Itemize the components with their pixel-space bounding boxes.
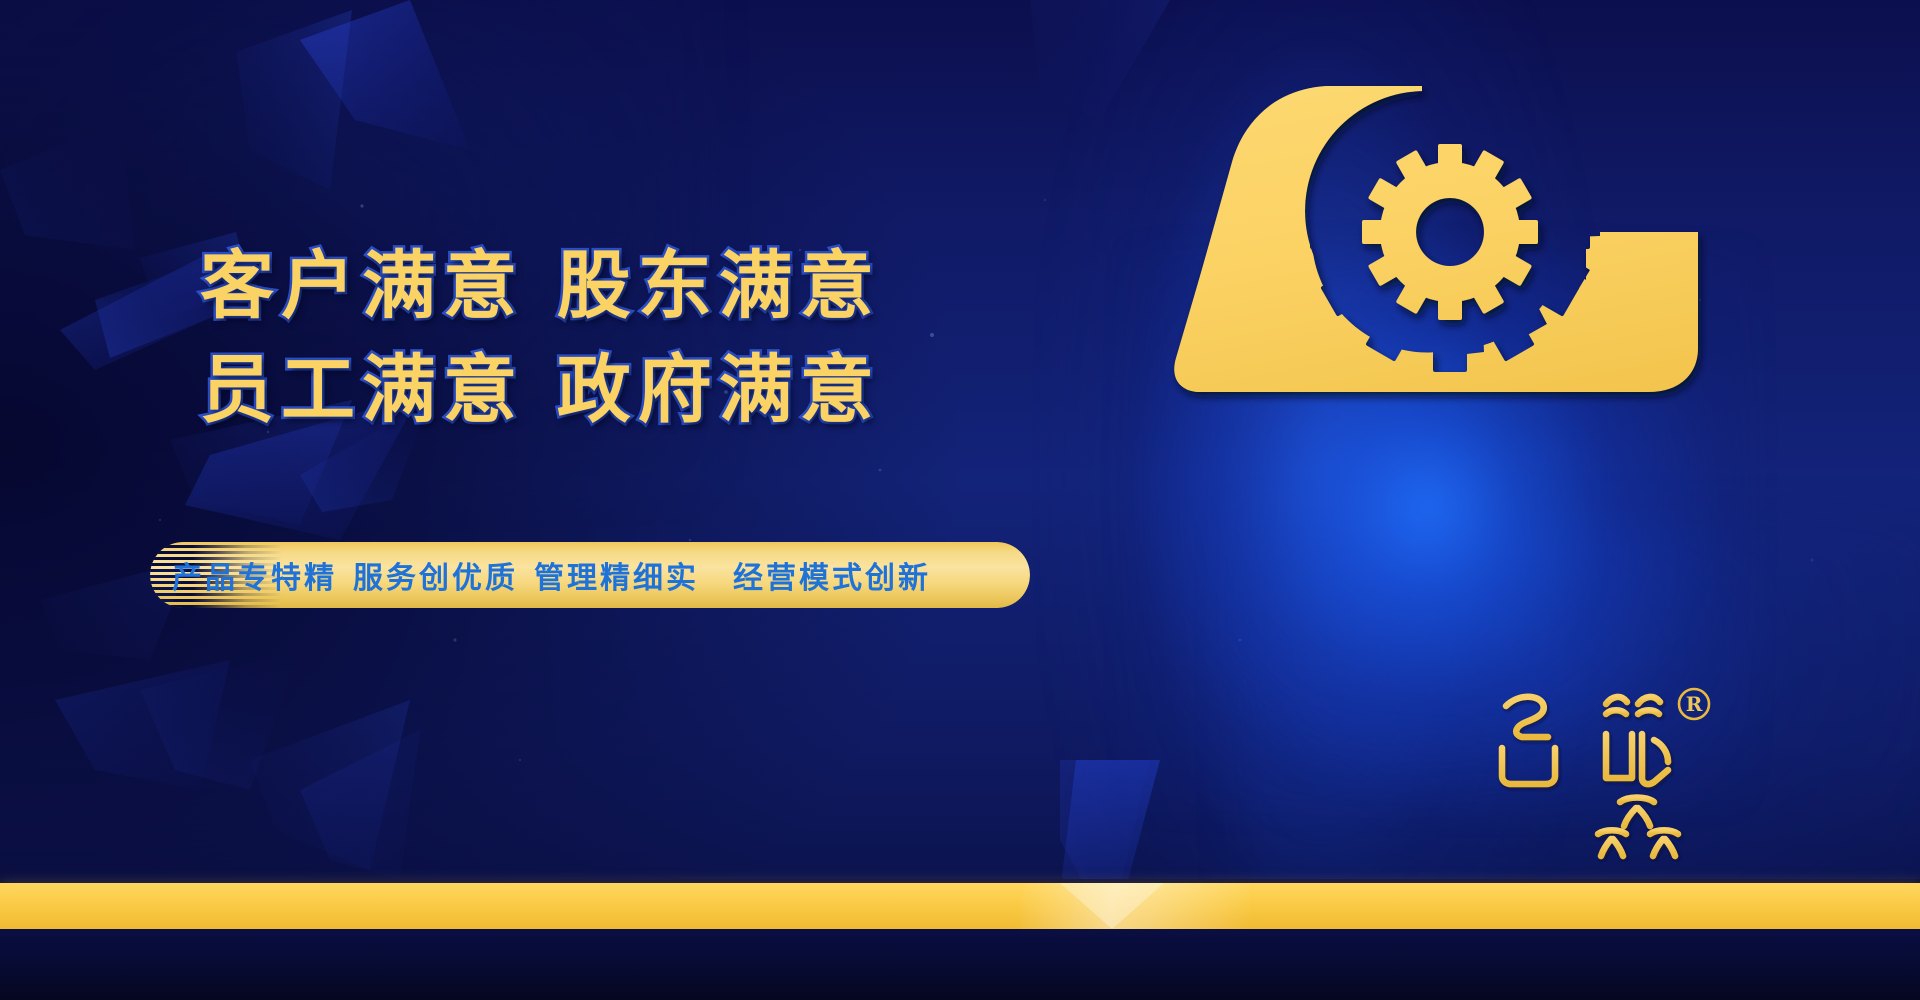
company-wordmark: R: [1488, 682, 1718, 862]
footer-dark-strip: [0, 929, 1920, 1000]
value-item-4: 经营模式创新: [733, 553, 931, 597]
svg-text:R: R: [1686, 692, 1703, 716]
slogan-block: 客户满意 股东满意 员工满意 政府满意: [200, 238, 920, 438]
seal-script-wordmark-icon: R: [1488, 682, 1718, 862]
gear-wing-logo-icon: [1120, 80, 1680, 410]
value-item-1: 产品专特精: [172, 553, 337, 597]
registered-trademark-icon: R: [1679, 689, 1709, 719]
value-item-3: 管理精细实: [534, 553, 699, 597]
company-logo: [1120, 80, 1680, 410]
background-left-vignette: [0, 0, 1075, 1000]
seal-char-sen: [1598, 794, 1678, 856]
values-banner: 产品专特精 服务创优质 管理精细实 经营模式创新: [150, 542, 1030, 608]
seal-char-zhu: [1604, 697, 1670, 784]
gold-footer-bar: [0, 883, 1920, 929]
values-banner-text: 产品专特精 服务创优质 管理精细实 经营模式创新: [150, 542, 1030, 608]
value-item-2: 服务创优质: [353, 553, 518, 597]
slogan-line-1: 客户满意 股东满意: [200, 238, 920, 334]
banner-stage: 客户满意 股东满意 员工满意 政府满意 产品专特精 服务创优质 管理精细实 经营…: [0, 0, 1920, 1000]
slogan-line-2: 员工满意 政府满意: [200, 342, 920, 438]
seal-char-zheng: [1500, 796, 1558, 850]
seal-char-tai: [1502, 697, 1555, 784]
footer-bar-light-wedge: [1060, 883, 1164, 929]
